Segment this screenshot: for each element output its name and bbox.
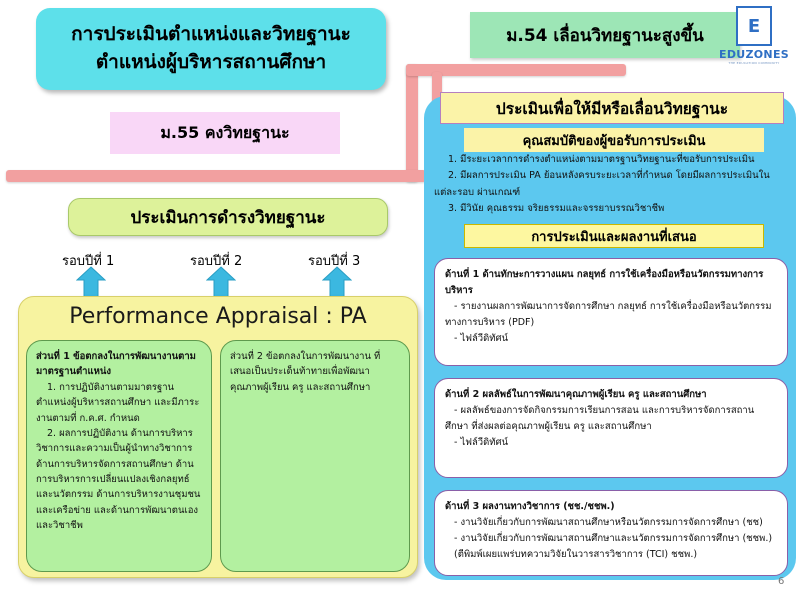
aspect-card-1: ด้านที่ 1 ด้านทักษะการวางแผน กลยุทธ์ การ…	[434, 258, 788, 366]
eduzones-tagline: THE EDUCATION COMMUNITY	[728, 61, 779, 65]
aspect-card-2: ด้านที่ 2 ผลลัพธ์ในการพัฒนาคุณภาพผู้เรีย…	[434, 378, 788, 478]
assessment-heading: การประเมินและผลงานที่เสนอ	[464, 224, 764, 248]
qualification-heading-label: คุณสมบัติของผู้ขอรับการประเมิน	[523, 130, 706, 151]
pa-part-2: ส่วนที่ 2 ข้อตกลงในการพัฒนางาน ที่เสนอเป…	[220, 340, 410, 572]
pa-part-1-heading: ส่วนที่ 1 ข้อตกลงในการพัฒนางานตามมาตรฐาน…	[36, 351, 196, 377]
arrow-up-icon-1	[76, 266, 106, 300]
qualification-list: 1. มีระยะเวลาการดำรงตำแหน่งตามมาตรฐานวิท…	[434, 152, 786, 217]
promote-title: ประเมินเพื่อให้มีหรือเลื่อนวิทยฐานะ	[440, 92, 784, 124]
pa-title: Performance Appraisal : PA	[18, 304, 418, 329]
pa-part-1: ส่วนที่ 1 ข้อตกลงในการพัฒนางานตามมาตรฐาน…	[26, 340, 212, 572]
connector-horizontal-main	[6, 170, 426, 182]
arrow-up-icon-3	[322, 266, 352, 300]
aspect-3-bullet-1: - งานวิจัยเกี่ยวกับการพัฒนาสถานศึกษาหรือ…	[445, 515, 777, 531]
section-54-label: ม.54 เลื่อนวิทยฐานะสูงขึ้น	[506, 22, 704, 49]
aspect-1-heading: ด้านที่ 1 ด้านทักษะการวางแผน กลยุทธ์ การ…	[445, 267, 777, 299]
pa-part-1-item-2: 2. ผลการปฏิบัติงาน ด้านการบริหารวิชาการแ…	[36, 426, 203, 534]
aspect-card-3: ด้านที่ 3 ผลงานทางวิชาการ (ชช./ชชพ.) - ง…	[434, 490, 788, 576]
aspect-1-bullet-1: - รายงานผลการพัฒนาการจัดการศึกษา กลยุทธ์…	[445, 299, 777, 331]
qualification-item-1: 1. มีระยะเวลาการดำรงตำแหน่งตามมาตรฐานวิท…	[434, 152, 786, 168]
section-55-header: ม.55 คงวิทยฐานะ	[110, 112, 340, 154]
section-55-label: ม.55 คงวิทยฐานะ	[160, 121, 289, 146]
eval-hold-label: ประเมินการดำรงวิทยฐานะ	[130, 204, 325, 231]
aspect-3-heading: ด้านที่ 3 ผลงานทางวิชาการ (ชช./ชชพ.)	[445, 499, 777, 515]
slide-canvas: การประเมินตำแหน่งและวิทยฐานะ ตำแหน่งผู้บ…	[0, 0, 800, 600]
page-title: การประเมินตำแหน่งและวิทยฐานะ ตำแหน่งผู้บ…	[36, 8, 386, 90]
eduzones-logo: E EDUZONES THE EDUCATION COMMUNITY	[723, 6, 785, 68]
aspect-2-bullet-2: - ไฟล์วีดิทัศน์	[445, 435, 777, 451]
page-title-line2: ตำแหน่งผู้บริหารสถานศึกษา	[96, 49, 326, 77]
section-54-header: ม.54 เลื่อนวิทยฐานะสูงขึ้น	[470, 12, 740, 58]
aspect-1-bullet-2: - ไฟล์วีดิทัศน์	[445, 331, 777, 347]
pa-part-2-heading: ส่วนที่ 2 ข้อตกลงในการพัฒนางาน	[230, 351, 371, 362]
aspect-2-bullet-1: - ผลลัพธ์ของการจัดกิจกรรมการเรียนการสอน …	[445, 403, 777, 435]
eduzones-mark-icon: E	[736, 6, 772, 46]
eduzones-mark-letter: E	[748, 16, 760, 37]
aspect-2-heading: ด้านที่ 2 ผลลัพธ์ในการพัฒนาคุณภาพผู้เรีย…	[445, 387, 777, 403]
aspect-3-bullet-3: (ตีพิมพ์เผยแพร่บทความวิจัยในวารสารวิชากา…	[445, 547, 777, 563]
qualification-heading: คุณสมบัติของผู้ขอรับการประเมิน	[464, 128, 764, 152]
qualification-item-2: 2. มีผลการประเมิน PA ย้อนหลังครบระยะเวลา…	[434, 168, 786, 201]
promote-title-label: ประเมินเพื่อให้มีหรือเลื่อนวิทยฐานะ	[496, 96, 728, 121]
connector-vertical-right	[406, 64, 418, 182]
arrow-up-icon-2	[206, 266, 236, 300]
page-number: 6	[778, 576, 784, 587]
page-title-line1: การประเมินตำแหน่งและวิทยฐานะ	[71, 21, 351, 49]
aspect-3-bullet-2: - งานวิจัยเกี่ยวกับการพัฒนาสถานศึกษาและน…	[445, 531, 777, 547]
eduzones-name: EDUZONES	[719, 48, 789, 61]
assessment-heading-label: การประเมินและผลงานที่เสนอ	[531, 226, 696, 247]
pa-part-1-item-1: 1. การปฏิบัติงานตามมาตรฐานตำแหน่งผู้บริห…	[36, 380, 203, 426]
qualification-item-3: 3. มีวินัย คุณธรรม จริยธรรมและจรรยาบรรณว…	[434, 201, 786, 217]
eval-hold-title: ประเมินการดำรงวิทยฐานะ	[68, 198, 388, 236]
